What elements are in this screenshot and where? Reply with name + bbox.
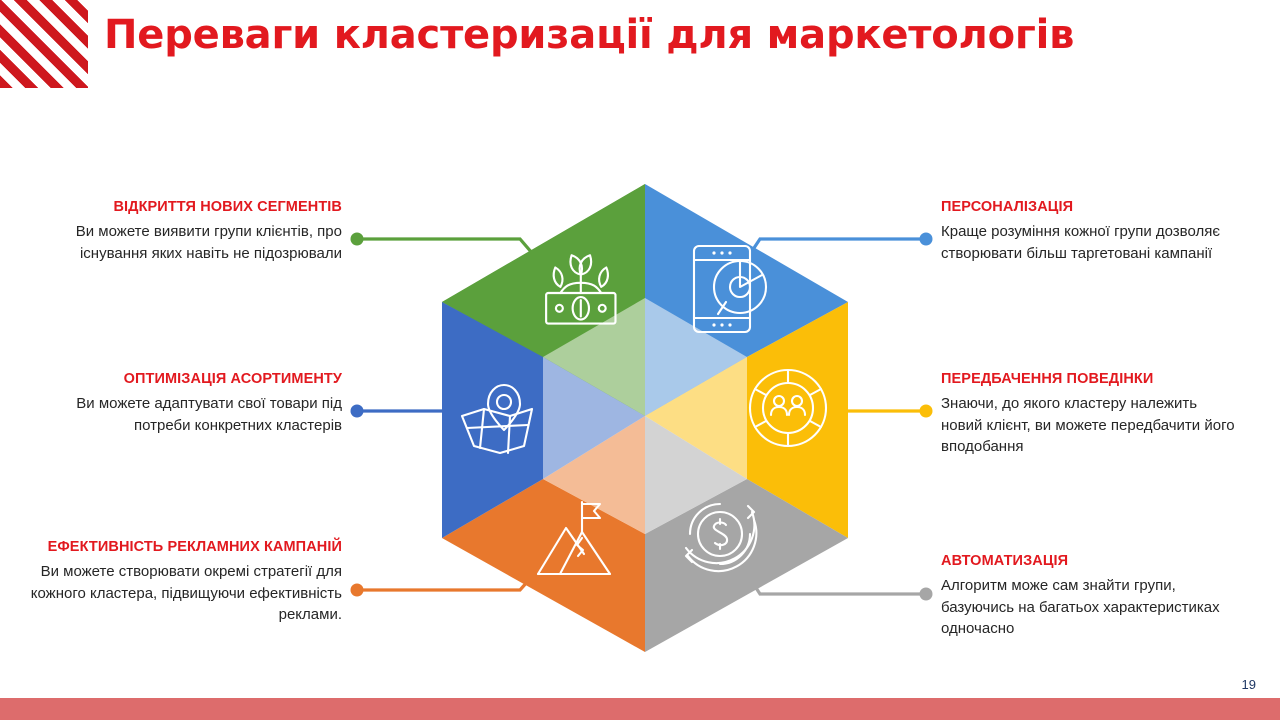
connector-dot-gray	[920, 588, 933, 601]
connector-dot-yellow	[920, 405, 933, 418]
diagonal-stripes-decoration	[0, 0, 88, 88]
slide-canvas: Переваги кластеризації для маркетологів	[0, 0, 1280, 720]
info-block-body: Ви можете створювати окремі стратегії дл…	[30, 561, 342, 625]
info-block-personalization[interactable]: ПЕРСОНАЛІЗАЦІЯ Краще розуміння кожної гр…	[941, 198, 1241, 264]
info-block-behavior-prediction[interactable]: ПЕРЕДБАЧЕННЯ ПОВЕДІНКИ Знаючи, до якого …	[941, 370, 1241, 457]
info-block-heading: ЕФЕКТИВНІСТЬ РЕКЛАМНИХ КАМПАНІЙ	[30, 538, 342, 556]
info-block-body: Знаючи, до якого кластеру належить новий…	[941, 393, 1241, 457]
connector-dot-blue	[920, 233, 933, 246]
info-block-heading: ПЕРЕДБАЧЕННЯ ПОВЕДІНКИ	[941, 370, 1241, 388]
info-block-assortment-optimization[interactable]: ОПТИМІЗАЦІЯ АСОРТИМЕНТУ Ви можете адапту…	[30, 370, 342, 436]
info-block-automation[interactable]: АВТОМАТИЗАЦІЯ Алгоритм може сам знайти г…	[941, 552, 1241, 639]
page-title: Переваги кластеризації для маркетологів	[104, 12, 1074, 58]
info-block-body: Ви можете виявити групи клієнтів, про іс…	[30, 221, 342, 264]
info-block-body: Ви можете адаптувати свої товари під пот…	[30, 393, 342, 436]
info-block-heading: ПЕРСОНАЛІЗАЦІЯ	[941, 198, 1241, 216]
info-block-discover-segments[interactable]: ВІДКРИТТЯ НОВИХ СЕГМЕНТІВ Ви можете вияв…	[30, 198, 342, 264]
info-block-heading: ВІДКРИТТЯ НОВИХ СЕГМЕНТІВ	[30, 198, 342, 216]
connector-dot-darkblue	[351, 405, 364, 418]
info-block-heading: ОПТИМІЗАЦІЯ АСОРТИМЕНТУ	[30, 370, 342, 388]
info-block-ad-campaign-effectiveness[interactable]: ЕФЕКТИВНІСТЬ РЕКЛАМНИХ КАМПАНІЙ Ви может…	[30, 538, 342, 625]
bottom-accent-bar	[0, 698, 1280, 720]
page-number: 19	[1242, 677, 1256, 692]
connector-dot-green	[351, 233, 364, 246]
info-block-heading: АВТОМАТИЗАЦІЯ	[941, 552, 1241, 570]
info-block-body: Алгоритм може сам знайти групи, базуючис…	[941, 575, 1241, 639]
info-block-body: Краще розуміння кожної групи дозволяє ст…	[941, 221, 1241, 264]
hexagon-diagram	[430, 180, 860, 652]
connector-dot-orange	[351, 584, 364, 597]
